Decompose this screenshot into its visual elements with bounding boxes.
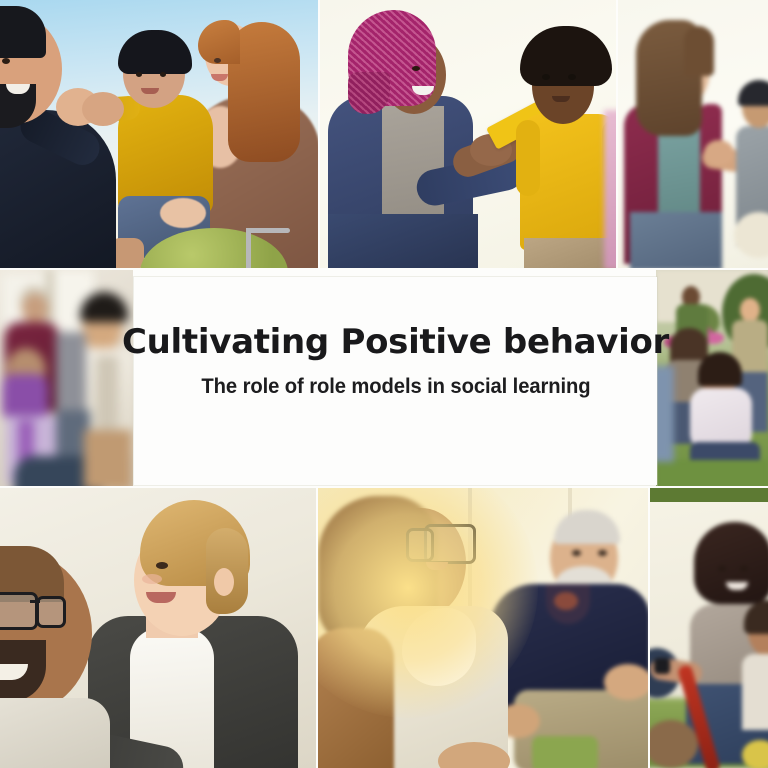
title-card: Cultivating Positive behavior The role o… <box>134 277 657 485</box>
photo-panel-top-left <box>0 0 318 268</box>
photo-panel-bottom-right <box>650 488 768 768</box>
poster-collage: Cultivating Positive behavior The role o… <box>0 0 768 768</box>
photo-panel-bottom-left <box>0 488 316 768</box>
photo-panel-bottom-middle <box>318 488 648 768</box>
photo-panel-middle-right <box>656 270 768 486</box>
photo-panel-top-right <box>618 0 768 268</box>
page-subtitle: The role of role models in social learni… <box>201 376 590 398</box>
page-title: Cultivating Positive behavior <box>122 325 669 359</box>
photo-panel-middle-left <box>0 270 133 486</box>
photo-panel-top-middle <box>320 0 616 268</box>
